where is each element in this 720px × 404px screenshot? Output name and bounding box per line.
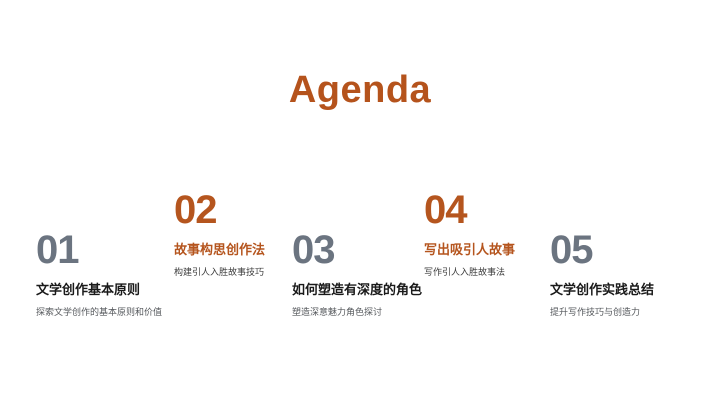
page-title: Agenda (0, 70, 720, 112)
agenda-item-01[interactable]: 01 文学创作基本原则 探索文学创作的基本原则和价值 (36, 230, 176, 318)
agenda-item-number: 01 (36, 230, 176, 270)
agenda-item-subtitle: 探索文学创作的基本原则和价值 (36, 307, 176, 318)
agenda-item-heading: 写出吸引人故事 (424, 242, 564, 258)
agenda-item-subtitle: 提升写作技巧与创造力 (550, 307, 690, 318)
agenda-slide: Agenda 01 文学创作基本原则 探索文学创作的基本原则和价值 02 故事构… (0, 0, 720, 404)
agenda-item-heading: 文学创作基本原则 (36, 282, 176, 298)
agenda-item-heading: 文学创作实践总结 (550, 282, 690, 298)
agenda-item-subtitle: 塑造深意魅力角色探讨 (292, 307, 432, 318)
agenda-item-04[interactable]: 04 写出吸引人故事 写作引人入胜故事法 (424, 190, 564, 278)
agenda-item-number: 03 (292, 230, 432, 270)
agenda-item-number: 05 (550, 230, 690, 270)
agenda-list: 01 文学创作基本原则 探索文学创作的基本原则和价值 02 故事构思创作法 构建… (0, 190, 720, 340)
agenda-item-03[interactable]: 03 如何塑造有深度的角色 塑造深意魅力角色探讨 (292, 230, 432, 318)
agenda-item-heading: 如何塑造有深度的角色 (292, 282, 432, 298)
agenda-item-subtitle: 写作引人入胜故事法 (424, 267, 564, 278)
agenda-item-number: 04 (424, 190, 564, 230)
agenda-item-number: 02 (174, 190, 314, 230)
agenda-item-05[interactable]: 05 文学创作实践总结 提升写作技巧与创造力 (550, 230, 690, 318)
